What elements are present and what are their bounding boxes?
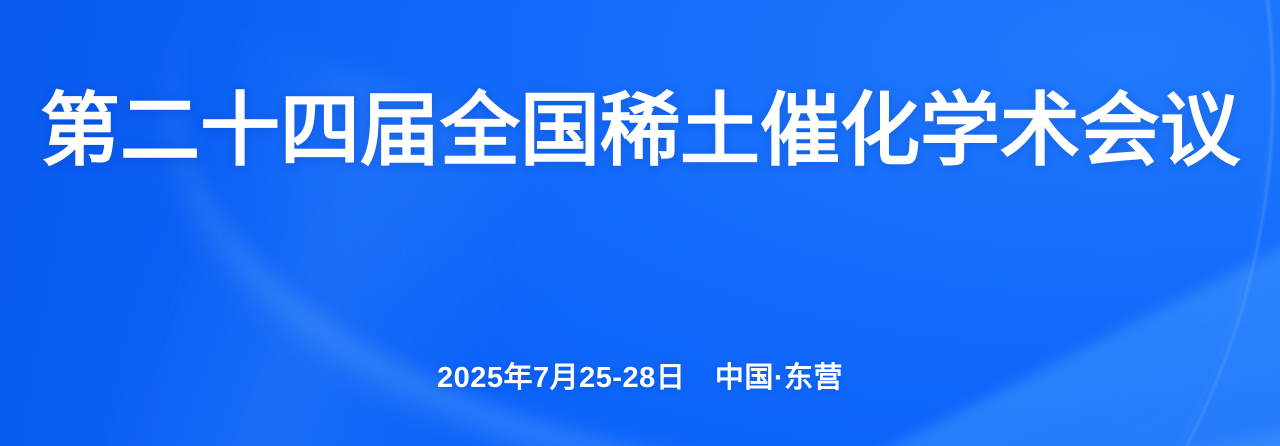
conference-date-location: 2025年7月25-28日 中国·东营 [0, 354, 1280, 396]
conference-banner: 第二十四届全国稀土催化学术会议 2025年7月25-28日 中国·东营 [0, 0, 1280, 446]
banner-content: 第二十四届全国稀土催化学术会议 2025年7月25-28日 中国·东营 [0, 0, 1280, 446]
conference-title: 第二十四届全国稀土催化学术会议 [0, 88, 1280, 174]
